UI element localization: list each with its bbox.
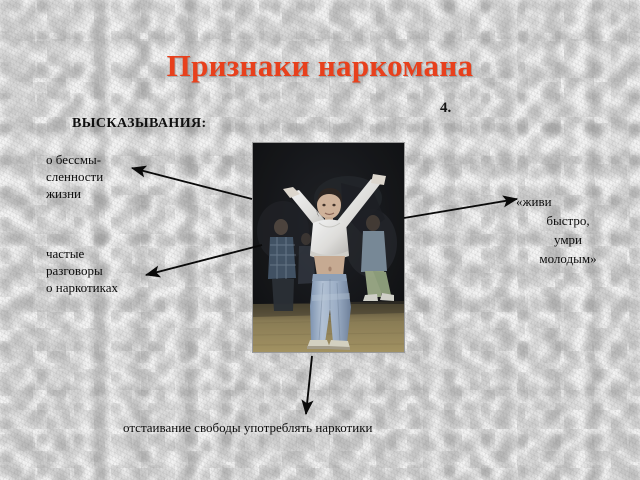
statement-line: быстро, — [516, 211, 620, 230]
page-title: Признаки наркомана — [0, 48, 640, 84]
statement-meaninglessness-of-life: о бессмы- сленности жизни — [46, 151, 103, 202]
slide-number: 4. — [440, 100, 451, 117]
statement-line: молодым» — [516, 249, 620, 268]
bottom-caption: отстаивание свободы употреблять наркотик… — [123, 420, 372, 436]
statement-frequent-drug-talk: частые разговоры о наркотиках — [46, 245, 118, 296]
statement-line: о бессмы- — [46, 151, 103, 168]
statement-line: умри — [516, 230, 620, 249]
statement-line: сленности — [46, 168, 103, 185]
statements-heading: ВЫСКАЗЫВАНИЯ: — [72, 116, 207, 132]
statement-line: о наркотиках — [46, 279, 118, 296]
statement-live-fast-die-young: «живи быстро, умри молодым» — [516, 192, 620, 268]
statement-line: частые — [46, 245, 118, 262]
statement-line: «живи — [516, 192, 620, 211]
statement-line: разговоры — [46, 262, 118, 279]
statement-line: жизни — [46, 185, 103, 202]
photo-dancing-person — [252, 142, 405, 353]
slide: Признаки наркомана 4. ВЫСКАЗЫВАНИЯ: о бе… — [0, 0, 640, 480]
